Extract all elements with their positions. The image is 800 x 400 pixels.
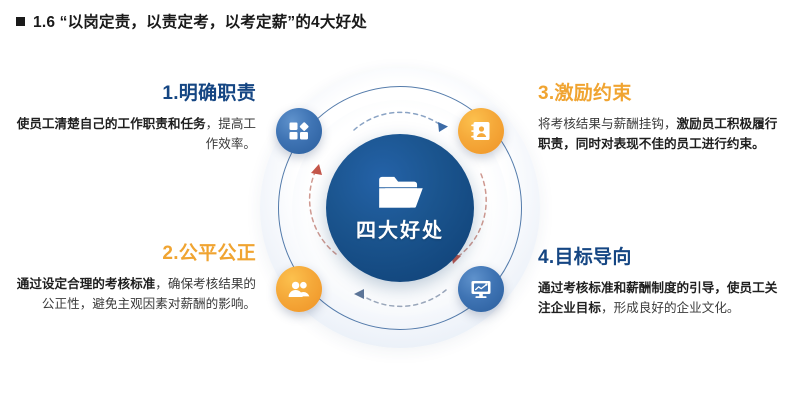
diagram-center-label: 四大好处 — [356, 214, 444, 243]
arrow-head-bottom — [354, 289, 364, 299]
square-bullet-icon — [16, 17, 25, 26]
folder-icon — [377, 174, 423, 210]
slide-body: 1.明确职责 使员工清楚自己的工作职责和任务，提高工作效率。 2.公平公正 通过… — [0, 46, 800, 400]
benefit-body-1-bold: 使员工清楚自己的工作职责和任务 — [17, 117, 206, 131]
diagram-node-top-right[interactable] — [458, 108, 504, 154]
benefit-heading-1: 1.明确职责 — [14, 84, 256, 105]
benefit-block-2: 2.公平公正 通过设定合理的考核标准，确保考核结果的公正性，避免主观因素对薪酬的… — [14, 244, 256, 315]
benefit-heading-4: 4.目标导向 — [538, 248, 780, 269]
monitor-chart-icon — [469, 277, 493, 301]
diagram-node-top-left[interactable] — [276, 108, 322, 154]
benefit-block-1: 1.明确职责 使员工清楚自己的工作职责和任务，提高工作效率。 — [14, 84, 256, 155]
benefit-heading-3: 3.激励约束 — [538, 84, 780, 105]
benefit-body-2: 通过设定合理的考核标准，确保考核结果的公正性，避免主观因素对薪酬的影响。 — [14, 274, 256, 315]
diagram-center: 四大好处 — [326, 134, 474, 282]
benefit-body-2-bold: 通过设定合理的考核标准 — [17, 277, 156, 291]
page-title: 1.6 “以岗定责，以责定考，以考定薪”的4大好处 — [33, 10, 367, 32]
contact-card-icon — [469, 119, 493, 143]
arrow-head-left — [311, 164, 322, 175]
grid-blocks-icon — [287, 119, 311, 143]
page-title-bar: 1.6 “以岗定责，以责定考，以考定薪”的4大好处 — [16, 10, 367, 32]
benefit-block-4: 4.目标导向 通过考核标准和薪酬制度的引导，使员工关注企业目标，形成良好的企业文… — [538, 248, 780, 319]
arrow-arc-bottom — [360, 290, 446, 306]
benefit-body-4: 通过考核标准和薪酬制度的引导，使员工关注企业目标，形成良好的企业文化。 — [538, 278, 780, 319]
benefit-block-3: 3.激励约束 将考核结果与薪酬挂钩，激励员工积极履行职责，同时对表现不佳的员工进… — [538, 84, 780, 155]
users-group-icon — [287, 277, 311, 301]
benefit-body-3-lead: 将考核结果与薪酬挂钩， — [538, 117, 677, 131]
arrow-arc-top — [354, 112, 442, 130]
benefit-body-4-rest: ，形成良好的企业文化。 — [601, 301, 740, 315]
benefit-body-3: 将考核结果与薪酬挂钩，激励员工积极履行职责，同时对表现不佳的员工进行约束。 — [538, 114, 780, 155]
diagram-node-bottom-right[interactable] — [458, 266, 504, 312]
benefit-body-1-rest: ，提高工作效率。 — [206, 117, 256, 151]
arrow-head-top — [438, 122, 448, 132]
benefit-body-1: 使员工清楚自己的工作职责和任务，提高工作效率。 — [14, 114, 256, 155]
benefit-heading-2: 2.公平公正 — [14, 244, 256, 265]
cycle-diagram: 四大好处 — [250, 58, 550, 358]
diagram-node-bottom-left[interactable] — [276, 266, 322, 312]
